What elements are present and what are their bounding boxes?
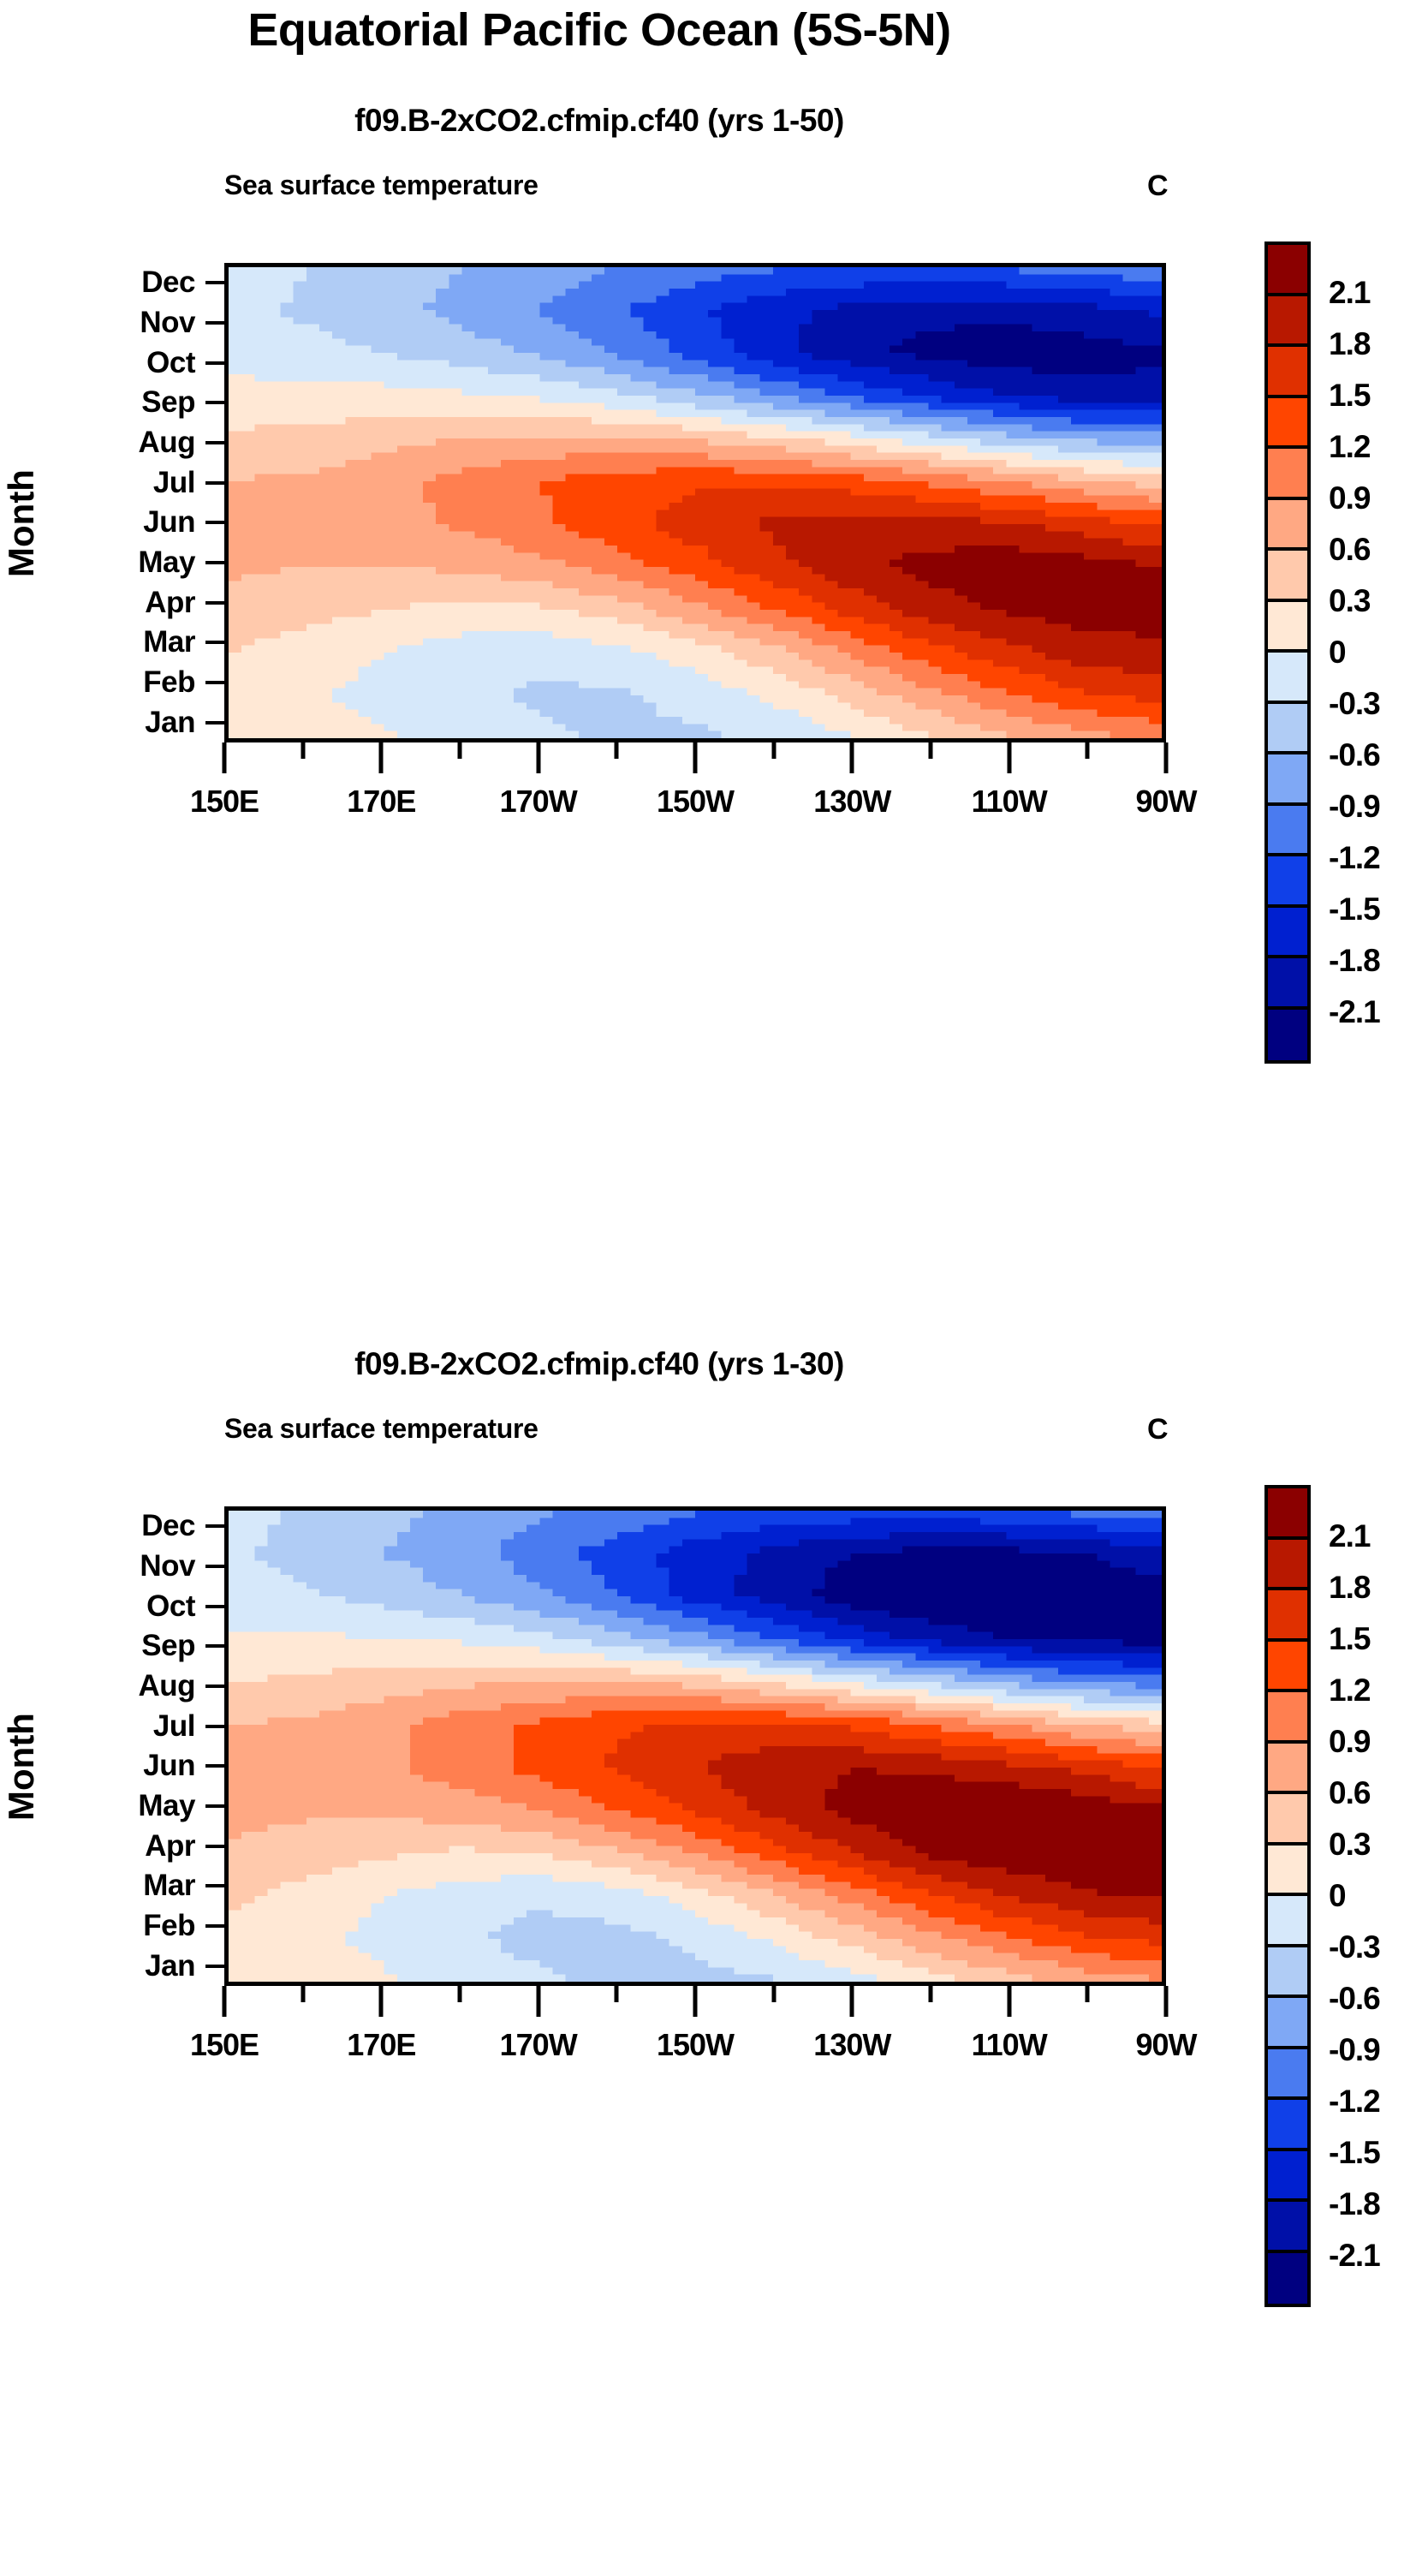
colorbar-cell	[1268, 2049, 1307, 2101]
colorbar-label: -1.5	[1329, 891, 1380, 927]
y-tick-label: Aug	[138, 426, 195, 460]
y-tick	[205, 1644, 224, 1648]
colorbar-cell	[1268, 1896, 1307, 1947]
units-label: C	[1147, 1413, 1169, 1446]
y-tick-label: May	[138, 546, 195, 580]
y-tick	[205, 481, 224, 485]
colorbar-cell	[1268, 1540, 1307, 1591]
x-tick-label: 130W	[813, 784, 890, 820]
y-tick-label: Sep	[141, 1629, 195, 1663]
y-tick	[205, 1764, 224, 1768]
y-tick-label: Feb	[143, 665, 195, 700]
x-tick	[223, 742, 227, 773]
panel-subtitle: f09.B-2xCO2.cfmip.cf40 (yrs 1-50)	[0, 103, 1199, 139]
y-tick	[205, 401, 224, 404]
colorbar-labels: 2.11.81.51.20.90.60.30-0.3-0.6-0.9-1.2-1…	[1329, 1485, 1423, 2307]
colorbar-label: 0.6	[1329, 532, 1370, 568]
x-tick	[1007, 1986, 1011, 2017]
x-tick	[1164, 1986, 1169, 2017]
y-tick-label: Dec	[141, 265, 195, 300]
y-tick	[205, 1685, 224, 1688]
colorbar-cell	[1268, 653, 1307, 704]
colorbar-label: -1.8	[1329, 2186, 1380, 2222]
x-tick	[1007, 742, 1011, 773]
y-tick	[205, 561, 224, 564]
y-tick-label: Jan	[145, 706, 195, 740]
x-tick-label: 170W	[500, 784, 577, 820]
colorbar-cell	[1268, 2253, 1307, 2305]
colorbar-label: 0.3	[1329, 1827, 1370, 1863]
colorbar-cell	[1268, 1642, 1307, 1693]
colorbar-label: -1.2	[1329, 840, 1380, 876]
y-tick	[205, 1725, 224, 1728]
colorbar-labels: 2.11.81.51.20.90.60.30-0.3-0.6-0.9-1.2-1…	[1329, 241, 1423, 1064]
colorbar-label: -2.1	[1329, 994, 1380, 1030]
x-tick-minor	[458, 1986, 462, 2002]
y-tick-label: Mar	[143, 625, 195, 659]
x-tick-minor	[615, 742, 619, 759]
y-tick	[205, 601, 224, 605]
colorbar-cell	[1268, 754, 1307, 806]
y-tick	[205, 1565, 224, 1568]
x-tick	[693, 742, 698, 773]
colorbar-cell	[1268, 602, 1307, 653]
y-axis-ticks: DecNovOctSepAugJulJunMayAprMarFebJan	[0, 263, 224, 742]
x-tick-minor	[615, 1986, 619, 2002]
x-tick	[693, 1986, 698, 2017]
colorbar-cell	[1268, 2202, 1307, 2253]
colorbar-label: 1.5	[1329, 1621, 1370, 1657]
x-tick-label: 90W	[1135, 784, 1196, 820]
colorbar-cell	[1268, 1010, 1307, 1061]
x-tick-minor	[771, 742, 776, 759]
colorbar-cell	[1268, 449, 1307, 500]
contour-field	[229, 267, 1162, 738]
colorbar-cell	[1268, 347, 1307, 398]
y-tick-label: Jun	[143, 505, 195, 540]
colorbar-label: -0.3	[1329, 1929, 1380, 1965]
colorbar	[1264, 241, 1311, 1064]
colorbar-cell	[1268, 2151, 1307, 2203]
colorbar-cell	[1268, 296, 1307, 348]
colorbar-label: 1.2	[1329, 429, 1370, 465]
x-tick-label: 90W	[1135, 2027, 1196, 2063]
x-tick-label: 150W	[657, 784, 734, 820]
colorbar-cell	[1268, 245, 1307, 296]
colorbar-label: -0.9	[1329, 789, 1380, 825]
colorbar-cell	[1268, 1947, 1307, 1999]
y-tick	[205, 1884, 224, 1887]
variable-label: Sea surface temperature	[224, 170, 538, 201]
colorbar-cell	[1268, 704, 1307, 755]
contour-plot	[224, 263, 1166, 742]
y-tick-label: Aug	[138, 1669, 195, 1703]
page-title: Equatorial Pacific Ocean (5S-5N)	[0, 3, 1199, 57]
y-tick-label: Nov	[140, 1549, 195, 1583]
colorbar-label: 0.9	[1329, 1724, 1370, 1760]
colorbar-cell	[1268, 1998, 1307, 2049]
x-tick	[379, 1986, 384, 2017]
y-tick	[205, 521, 224, 524]
colorbar-cell	[1268, 2100, 1307, 2151]
x-tick	[536, 1986, 540, 2017]
y-tick-label: Feb	[143, 1909, 195, 1943]
y-tick-label: Mar	[143, 1869, 195, 1903]
x-tick	[1164, 742, 1169, 773]
x-tick-minor	[771, 1986, 776, 2002]
x-tick-label: 150W	[657, 2027, 734, 2063]
x-tick	[850, 742, 854, 773]
x-tick-minor	[1086, 1986, 1090, 2002]
colorbar-label: 1.5	[1329, 378, 1370, 414]
x-tick-minor	[300, 1986, 305, 2002]
y-tick	[205, 1845, 224, 1848]
colorbar-cell	[1268, 500, 1307, 552]
panel-subtitle: f09.B-2xCO2.cfmip.cf40 (yrs 1-30)	[0, 1346, 1199, 1382]
colorbar-label: -1.5	[1329, 2135, 1380, 2171]
y-tick-label: Oct	[146, 1589, 195, 1624]
contour-plot	[224, 1506, 1166, 1986]
y-tick	[205, 441, 224, 444]
x-tick-minor	[1086, 742, 1090, 759]
colorbar-cell	[1268, 1744, 1307, 1795]
y-tick-label: Apr	[145, 1829, 195, 1863]
colorbar-label: 1.2	[1329, 1673, 1370, 1708]
colorbar-label: 2.1	[1329, 1518, 1370, 1554]
x-tick	[536, 742, 540, 773]
colorbar-label: -0.9	[1329, 2032, 1380, 2068]
colorbar-cell	[1268, 1692, 1307, 1744]
colorbar-label: -1.8	[1329, 943, 1380, 979]
x-tick	[379, 742, 384, 773]
colorbar-cell	[1268, 1488, 1307, 1540]
colorbar-label: 0.3	[1329, 583, 1370, 619]
x-tick-label: 170E	[347, 784, 415, 820]
x-tick-label: 170W	[500, 2027, 577, 2063]
colorbar-label: -0.3	[1329, 686, 1380, 722]
x-tick-minor	[929, 1986, 933, 2002]
colorbar-label: 0.6	[1329, 1775, 1370, 1811]
x-axis-ticks: 150E170E170W150W130W110W90W	[224, 1986, 1166, 2046]
colorbar	[1264, 1485, 1311, 2307]
x-tick-label: 150E	[190, 784, 259, 820]
colorbar-label: 0	[1329, 635, 1346, 671]
x-tick-label: 170E	[347, 2027, 415, 2063]
y-tick-label: Oct	[146, 346, 195, 380]
x-tick-label: 130W	[813, 2027, 890, 2063]
y-tick	[205, 1965, 224, 1968]
colorbar-cell	[1268, 398, 1307, 450]
y-tick-label: Jun	[143, 1749, 195, 1783]
y-tick	[205, 1924, 224, 1928]
y-tick-label: May	[138, 1789, 195, 1823]
x-tick-minor	[458, 742, 462, 759]
x-axis-ticks: 150E170E170W150W130W110W90W	[224, 742, 1166, 802]
colorbar-cell	[1268, 958, 1307, 1010]
x-tick-label: 150E	[190, 2027, 259, 2063]
colorbar-label: -2.1	[1329, 2238, 1380, 2274]
x-tick	[850, 1986, 854, 2017]
y-tick	[205, 721, 224, 724]
colorbar-label: 0.9	[1329, 480, 1370, 516]
y-tick	[205, 1605, 224, 1608]
y-tick	[205, 1524, 224, 1528]
y-tick-label: Apr	[145, 586, 195, 620]
y-tick-label: Jan	[145, 1949, 195, 1983]
x-tick-label: 110W	[972, 2027, 1047, 2063]
x-tick-minor	[929, 742, 933, 759]
y-tick-label: Dec	[141, 1509, 195, 1543]
units-label: C	[1147, 170, 1169, 203]
x-tick	[223, 1986, 227, 2017]
colorbar-cell	[1268, 1846, 1307, 1897]
y-tick-label: Jul	[153, 466, 195, 500]
y-tick	[205, 281, 224, 284]
colorbar-label: 0	[1329, 1878, 1346, 1914]
colorbar-cell	[1268, 551, 1307, 602]
variable-label: Sea surface temperature	[224, 1413, 538, 1445]
colorbar-cell	[1268, 1794, 1307, 1846]
y-tick-label: Sep	[141, 385, 195, 420]
x-tick-minor	[300, 742, 305, 759]
contour-field	[229, 1511, 1162, 1982]
colorbar-label: 1.8	[1329, 326, 1370, 362]
y-tick	[205, 681, 224, 684]
colorbar-label: 2.1	[1329, 275, 1370, 311]
y-tick-label: Nov	[140, 306, 195, 340]
y-tick	[205, 321, 224, 325]
colorbar-cell	[1268, 1590, 1307, 1642]
colorbar-label: -0.6	[1329, 737, 1380, 773]
y-tick	[205, 641, 224, 644]
y-tick	[205, 361, 224, 365]
y-tick	[205, 1804, 224, 1808]
y-axis-ticks: DecNovOctSepAugJulJunMayAprMarFebJan	[0, 1506, 224, 1986]
colorbar-label: -0.6	[1329, 1981, 1380, 2017]
colorbar-cell	[1268, 856, 1307, 908]
colorbar-label: 1.8	[1329, 1570, 1370, 1606]
x-tick-label: 110W	[972, 784, 1047, 820]
colorbar-label: -1.2	[1329, 2084, 1380, 2120]
y-tick-label: Jul	[153, 1709, 195, 1744]
colorbar-cell	[1268, 806, 1307, 857]
colorbar-cell	[1268, 908, 1307, 959]
